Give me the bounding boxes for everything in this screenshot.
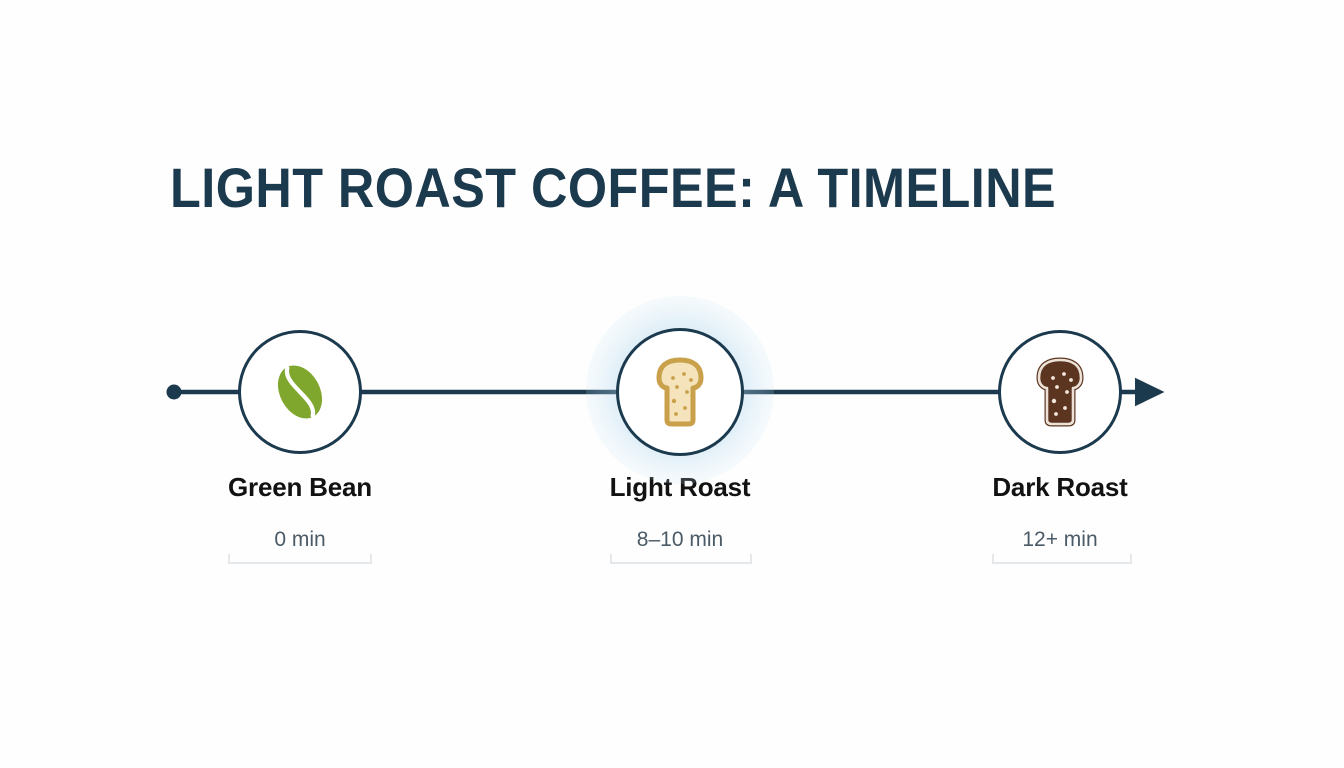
node-label-light-roast: Light Roast (530, 472, 830, 503)
light-toast-icon (647, 356, 713, 428)
green-bean-circle[interactable] (238, 330, 362, 454)
light-roast-circle[interactable] (616, 328, 744, 456)
time-rule-light-roast (610, 552, 752, 566)
node-label-green-bean: Green Bean (150, 472, 450, 503)
dark-roast-circle[interactable] (998, 330, 1122, 454)
coffee-bean-icon (264, 356, 336, 428)
node-time-green-bean: 0 min (150, 528, 450, 552)
node-time-light-roast: 8–10 min (530, 528, 830, 552)
time-rule-dark-roast (992, 552, 1132, 566)
infographic-canvas: LIGHT ROAST COFFEE: A TIMELINE Green Bea… (0, 0, 1344, 768)
dark-toast-icon (1027, 356, 1093, 428)
time-rule-green-bean (228, 552, 372, 566)
node-time-dark-roast: 12+ min (910, 528, 1210, 552)
start-dot (167, 385, 182, 400)
node-label-dark-roast: Dark Roast (910, 472, 1210, 503)
